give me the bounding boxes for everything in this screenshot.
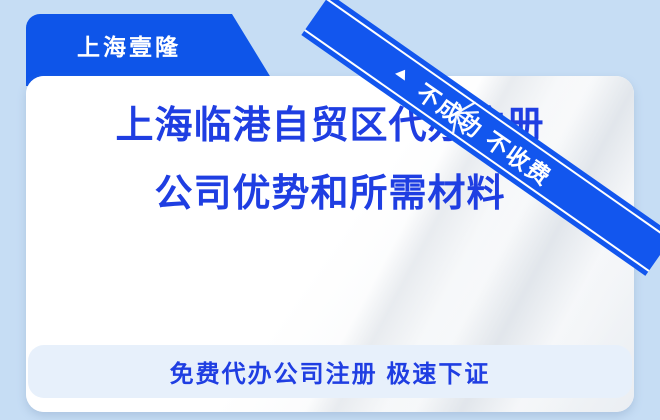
triangle-up-icon [395, 66, 410, 80]
poster-canvas: 上海壹隆 上海临港自贸区代办注册 公司优势和所需材料 免费代办公司注册 极速下证 [0, 0, 660, 420]
cta-banner-label: 免费代办公司注册 极速下证 [170, 354, 491, 389]
page-title-line-1: 上海临港自贸区代办注册 [0, 92, 660, 160]
cta-banner[interactable]: 免费代办公司注册 极速下证 [28, 345, 632, 398]
brand-tab-label: 上海壹隆 [26, 14, 232, 76]
